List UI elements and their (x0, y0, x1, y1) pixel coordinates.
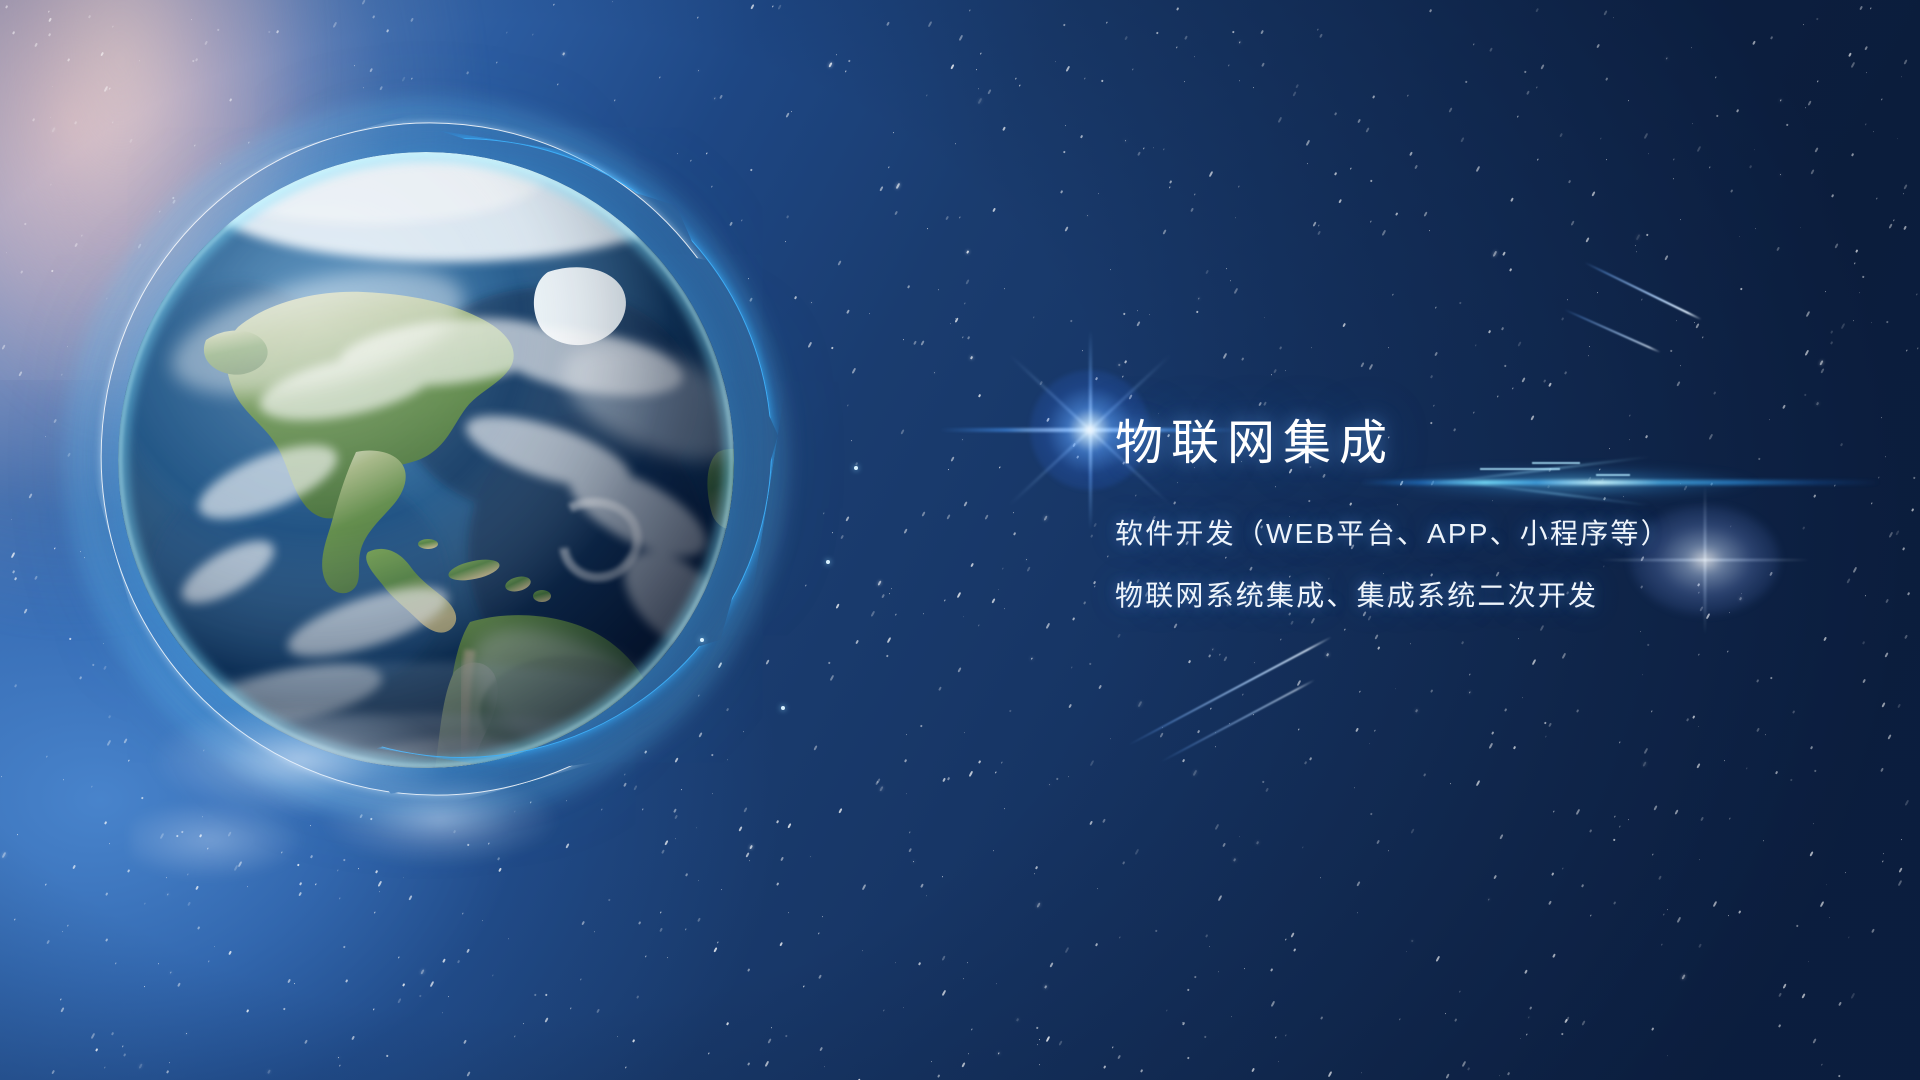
orbit-node-dot (700, 638, 704, 642)
earth-globe (118, 152, 734, 768)
hero-banner: 物联网集成 软件开发（WEB平台、APP、小程序等） 物联网系统集成、集成系统二… (0, 0, 1920, 1080)
hero-copy: 物联网集成 软件开发（WEB平台、APP、小程序等） 物联网系统集成、集成系统二… (1115, 420, 1875, 610)
subtitle-line-1: 软件开发（WEB平台、APP、小程序等） (1115, 520, 1875, 548)
orbit-node-dot (826, 560, 830, 564)
subtitle-line-2: 物联网系统集成、集成系统二次开发 (1115, 582, 1875, 610)
orbit-node-dot (781, 706, 785, 710)
orbit-node-dot (854, 466, 858, 470)
cloud-wisp-below-globe (130, 690, 600, 920)
globe-sphere (118, 152, 734, 768)
page-title: 物联网集成 (1115, 420, 1875, 468)
